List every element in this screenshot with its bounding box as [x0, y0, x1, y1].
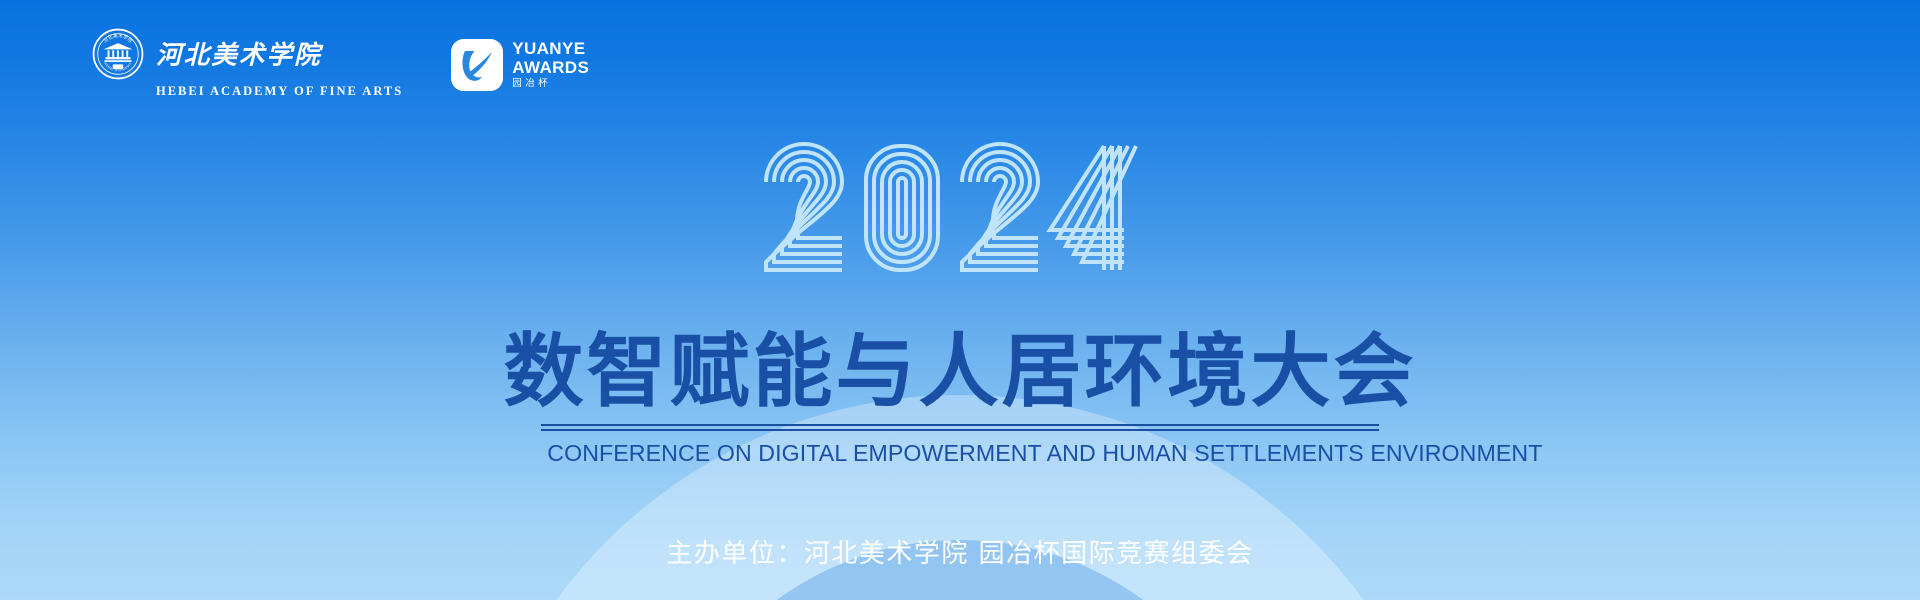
divider-line-top: [541, 424, 1379, 426]
logo-row: 河北美术学院 HEBEI ACADEMY 河北美术学院 HEBEI ACADEM…: [92, 28, 589, 99]
hebei-seal-icon: 河北美术学院 HEBEI ACADEMY: [92, 28, 144, 80]
svg-text:河北美术学院: 河北美术学院: [156, 40, 324, 70]
yuanye-awards-logo[interactable]: YUANYE AWARDS 园冶杯: [451, 39, 589, 91]
yuanye-line2: AWARDS: [512, 59, 589, 76]
hebei-academy-logo[interactable]: 河北美术学院 HEBEI ACADEMY 河北美术学院 HEBEI ACADEM…: [92, 28, 403, 99]
yuanye-mark-icon: [451, 39, 503, 91]
hebei-logo-main: 河北美术学院 HEBEI ACADEMY 河北美术学院: [92, 28, 352, 80]
conference-title-en: CONFERENCE ON DIGITAL EMPOWERMENT AND HU…: [547, 440, 1372, 467]
conference-banner: 河北美术学院 HEBEI ACADEMY 河北美术学院 HEBEI ACADEM…: [0, 0, 1920, 600]
divider-line-bottom: [541, 429, 1379, 431]
organizer-line: 主办单位：河北美术学院 园冶杯国际竞赛组委会: [0, 533, 1920, 570]
yuanye-wordmark: YUANYE AWARDS 园冶杯: [512, 40, 589, 89]
title-divider: [541, 424, 1379, 431]
year-2024-icon: [760, 138, 1160, 278]
yuanye-chinese-name: 园冶杯: [512, 79, 589, 89]
yuanye-line1: YUANYE: [512, 40, 589, 57]
hebei-chinese-wordmark-icon: 河北美术学院: [156, 37, 352, 71]
headline-block: 数智赋能与人居环境大会 CONFERENCE ON DIGITAL EMPOWE…: [0, 330, 1920, 467]
year-graphic: [0, 138, 1920, 278]
conference-title-cn: 数智赋能与人居环境大会: [504, 330, 1417, 413]
hebei-english-name: HEBEI ACADEMY OF FINE ARTS: [156, 84, 403, 99]
